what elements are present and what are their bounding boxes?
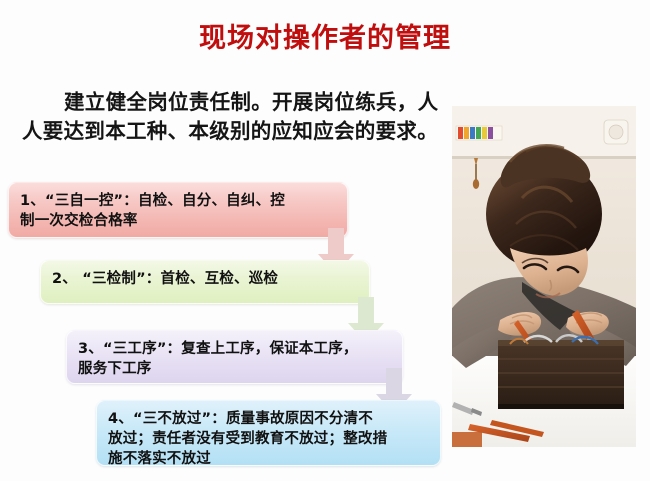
intro-paragraph: 建立健全岗位责任制。开展岗位练兵，人人要达到本工种、本级别的应知应会的要求。	[22, 88, 442, 146]
process-box-2-line-1: 2、 “三检制”：首检、互检、巡检	[52, 269, 359, 289]
process-box-1-line-1: 1、“三自一控”：自检、自分、自纠、控	[20, 191, 337, 211]
process-box-3-line-2: 服务下工序	[78, 359, 392, 379]
process-box-4[interactable]: 4、“三不放过”：质量事故原因不分清不 放过；责任者没有受到教育不放过；整改措 …	[96, 400, 441, 466]
photograph-worker	[452, 106, 636, 447]
slide-canvas: 现场对操作者的管理 建立健全岗位责任制。开展岗位练兵，人人要达到本工种、本级别的…	[0, 0, 650, 481]
process-box-4-line-3: 施不落实不放过	[108, 449, 430, 469]
process-box-4-line-2: 放过；责任者没有受到教育不放过；整改措	[108, 429, 430, 449]
process-box-4-line-1: 4、“三不放过”：质量事故原因不分清不	[108, 409, 430, 429]
process-box-3-line-1: 3、“三工序”：复查上工序，保证本工序，	[78, 339, 392, 359]
process-box-2[interactable]: 2、 “三检制”：首检、互检、巡检	[40, 260, 370, 304]
process-box-1-line-2: 制一次交检合格率	[20, 211, 337, 231]
process-box-3[interactable]: 3、“三工序”：复查上工序，保证本工序， 服务下工序	[66, 330, 403, 384]
page-title: 现场对操作者的管理	[0, 16, 650, 55]
process-box-1[interactable]: 1、“三自一控”：自检、自分、自纠、控 制一次交检合格率	[8, 182, 348, 238]
photograph-worker-image	[452, 106, 636, 447]
